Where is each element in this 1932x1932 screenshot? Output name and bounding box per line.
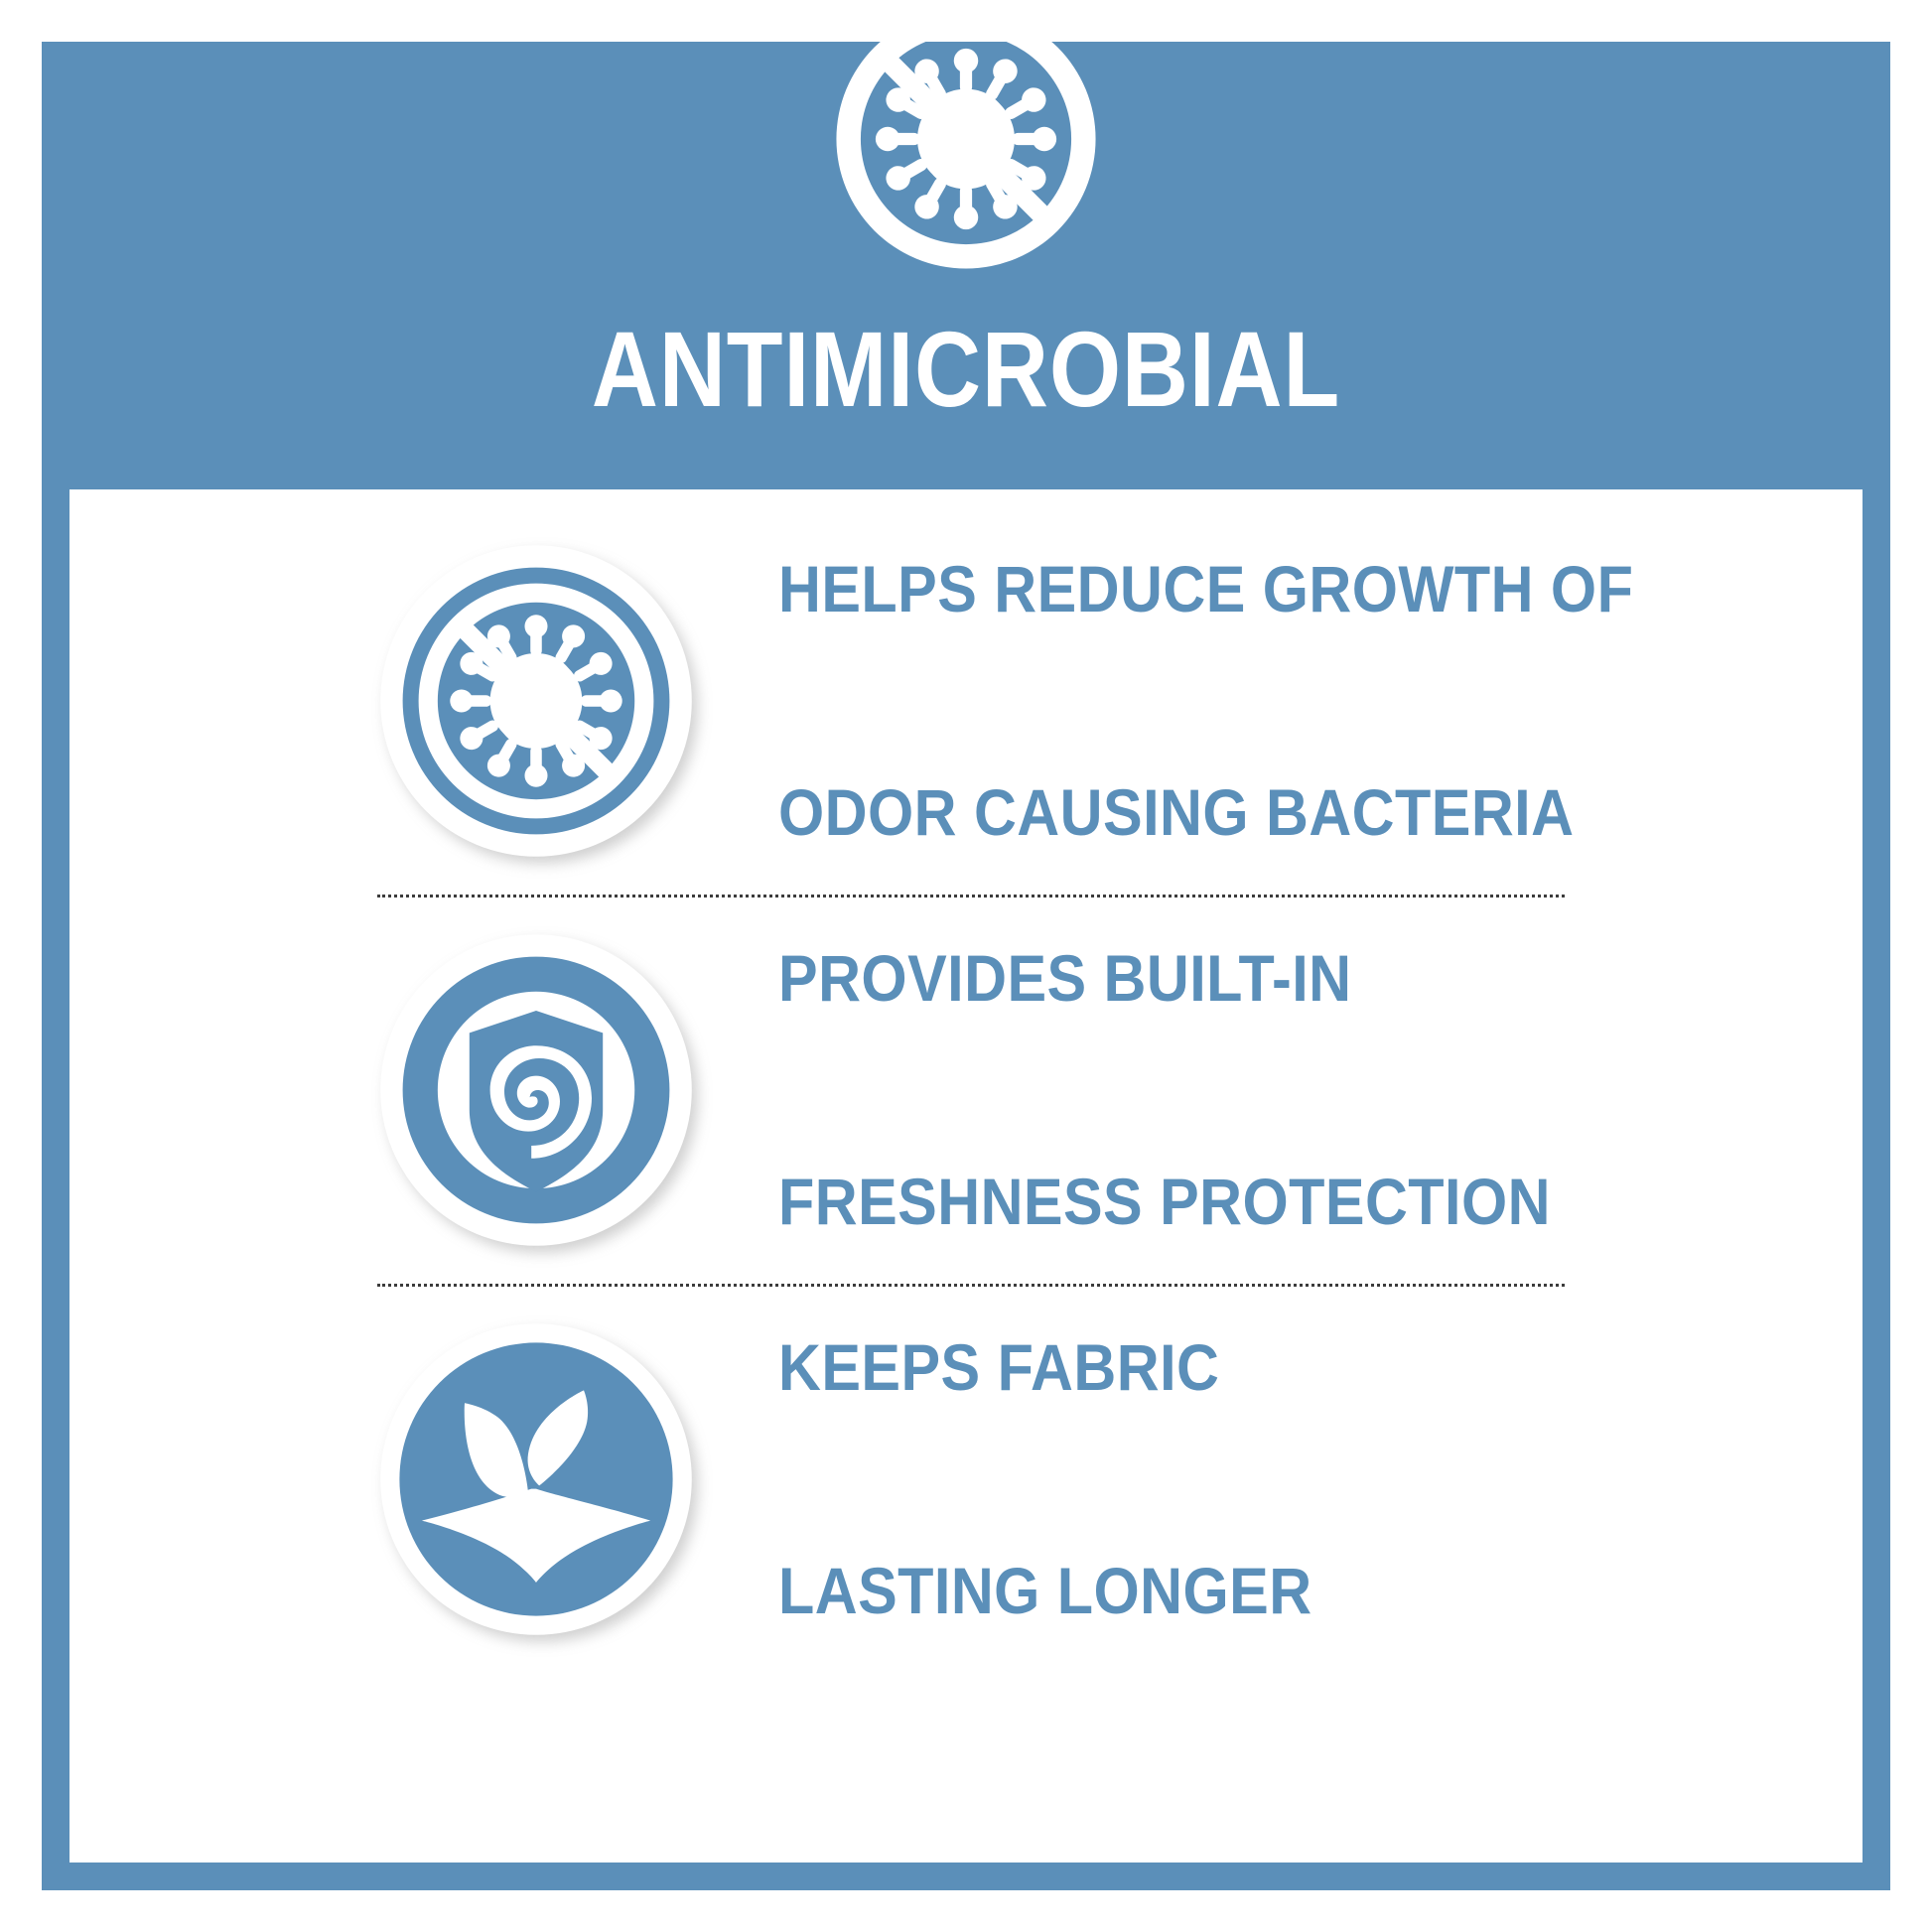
feature-text-line1: HELPS REDUCE GROWTH OF <box>778 552 1633 626</box>
features-panel: HELPS REDUCE GROWTH OF ODOR CAUSING BACT… <box>69 489 1863 1863</box>
shield-swirl-icon <box>377 931 695 1249</box>
page-title: ANTIMICROBIAL <box>135 316 1797 423</box>
feature-text-line2: LASTING LONGER <box>778 1554 1312 1628</box>
leaf-sprout-icon <box>377 1320 695 1638</box>
feature-text-line1: KEEPS FABRIC <box>778 1330 1312 1405</box>
no-germ-circle-icon <box>377 542 695 860</box>
feature-text: KEEPS FABRIC LASTING LONGER <box>778 1180 1312 1778</box>
feature-text-line1: PROVIDES BUILT-IN <box>778 941 1551 1016</box>
feature-row: KEEPS FABRIC LASTING LONGER <box>69 1286 1863 1673</box>
infographic-canvas: ANTIMICROBIAL <box>0 0 1932 1932</box>
no-germ-icon <box>831 4 1101 274</box>
